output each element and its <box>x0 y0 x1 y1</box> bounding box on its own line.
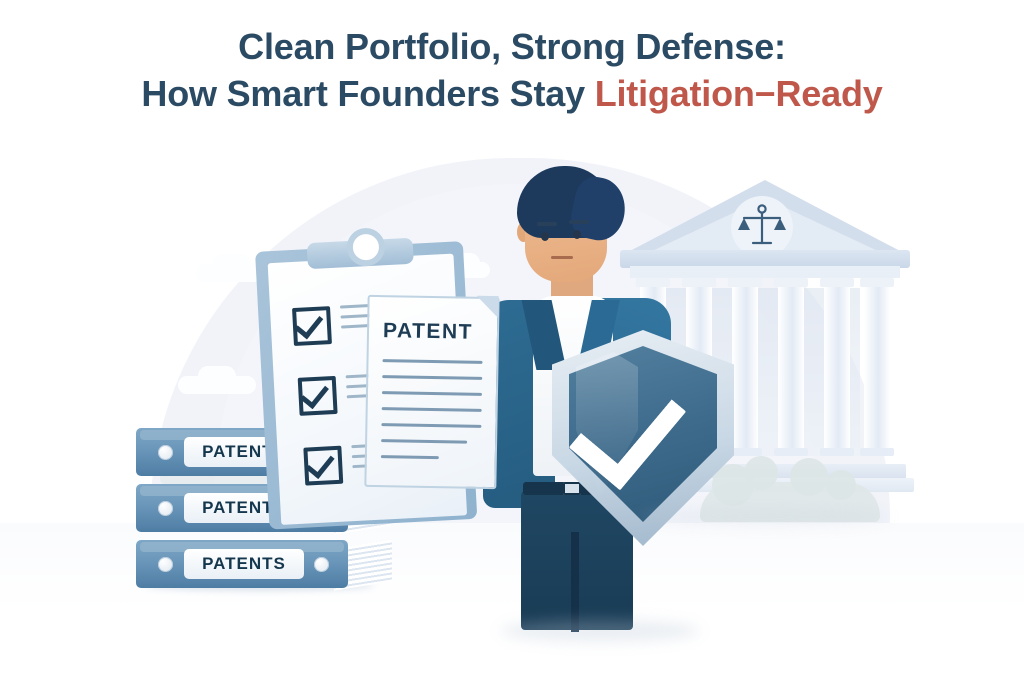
person-shadow <box>500 620 700 642</box>
courthouse-column <box>824 278 850 456</box>
title-line-2-text: How Smart Founders Stay <box>141 73 594 114</box>
checkbox-checked[interactable] <box>303 446 343 486</box>
courthouse-shadow <box>640 508 890 526</box>
checkbox-checked[interactable] <box>292 306 332 346</box>
cloud-icon <box>212 254 252 276</box>
illustration-canvas: Clean Portfolio, Strong Defense: How Sma… <box>0 0 1024 683</box>
title-line-1-text: Clean Portfolio, Strong Defense: <box>238 26 786 67</box>
bush-icon <box>826 470 856 500</box>
patent-text-line <box>382 391 482 396</box>
page-title: Clean Portfolio, Strong Defense: How Sma… <box>0 24 1024 118</box>
eyebrow-right <box>569 220 589 224</box>
courthouse-column <box>864 278 890 456</box>
bush-icon <box>744 456 778 490</box>
patent-text-line <box>381 455 439 459</box>
eye-left <box>541 232 549 241</box>
cloud-icon <box>198 366 236 386</box>
binder-rivet-left <box>158 445 173 460</box>
courthouse-column <box>732 278 758 456</box>
patent-text-line <box>382 407 482 412</box>
patent-heading: PATENT <box>383 319 473 345</box>
patent-binder[interactable]: PATENTS <box>136 540 346 590</box>
title-line-1: Clean Portfolio, Strong Defense: <box>0 24 1024 71</box>
binder-rivet-left <box>158 557 173 572</box>
eyebrow-left <box>537 222 557 226</box>
scales-of-justice-icon <box>731 196 793 258</box>
courthouse-column <box>778 278 804 456</box>
checkbox-checked[interactable] <box>298 376 338 416</box>
patent-text-line <box>382 375 482 380</box>
bush-icon <box>790 458 828 496</box>
patent-document[interactable]: PATENT <box>364 295 497 487</box>
binder-rivet-left <box>158 501 173 516</box>
patent-folded-corner <box>476 296 498 318</box>
title-line-2: How Smart Founders Stay Litigation−Ready <box>0 71 1024 118</box>
leg-split <box>571 532 579 632</box>
binder-rivet-right <box>314 557 329 572</box>
patent-text-line <box>382 359 482 364</box>
hero-illustration: PATENTS PATENTS PATENTS <box>0 150 1024 683</box>
mouth <box>551 256 573 259</box>
binder-label: PATENTS <box>184 549 304 579</box>
patent-text-line <box>381 423 481 428</box>
title-highlight-text: Litigation−Ready <box>595 73 883 114</box>
eye-right <box>573 230 581 239</box>
patent-text-line <box>381 439 467 444</box>
patent-paper: PATENT <box>364 295 499 489</box>
